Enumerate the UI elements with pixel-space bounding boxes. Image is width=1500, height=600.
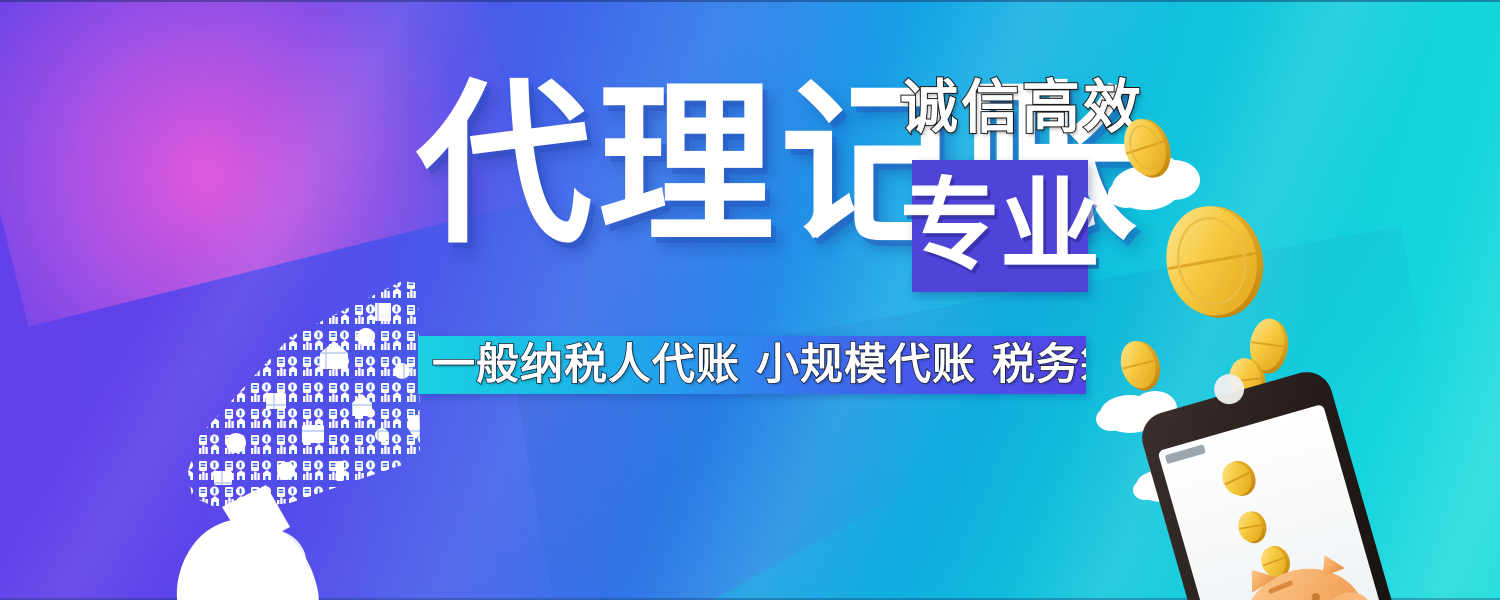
services-bar: 一般纳税人代账 小规模代账 税务筹划 (418, 336, 1086, 394)
top-border-rule (0, 0, 1500, 2)
professional-badge-label: 专业 (900, 176, 1100, 276)
coins-phone-illustration (1090, 120, 1500, 600)
smartphone (1131, 348, 1416, 600)
megaphone-illustration (170, 275, 500, 600)
promo-banner: 代理记账 诚信高效 专业 一般纳税人代账 小规模代账 税务筹划 (0, 0, 1500, 600)
hand-grip (177, 519, 319, 600)
professional-badge: 专业 (912, 160, 1088, 292)
megaphone-cone (170, 275, 500, 525)
services-list-text: 一般纳税人代账 小规模代账 税务筹划 (418, 344, 1086, 387)
